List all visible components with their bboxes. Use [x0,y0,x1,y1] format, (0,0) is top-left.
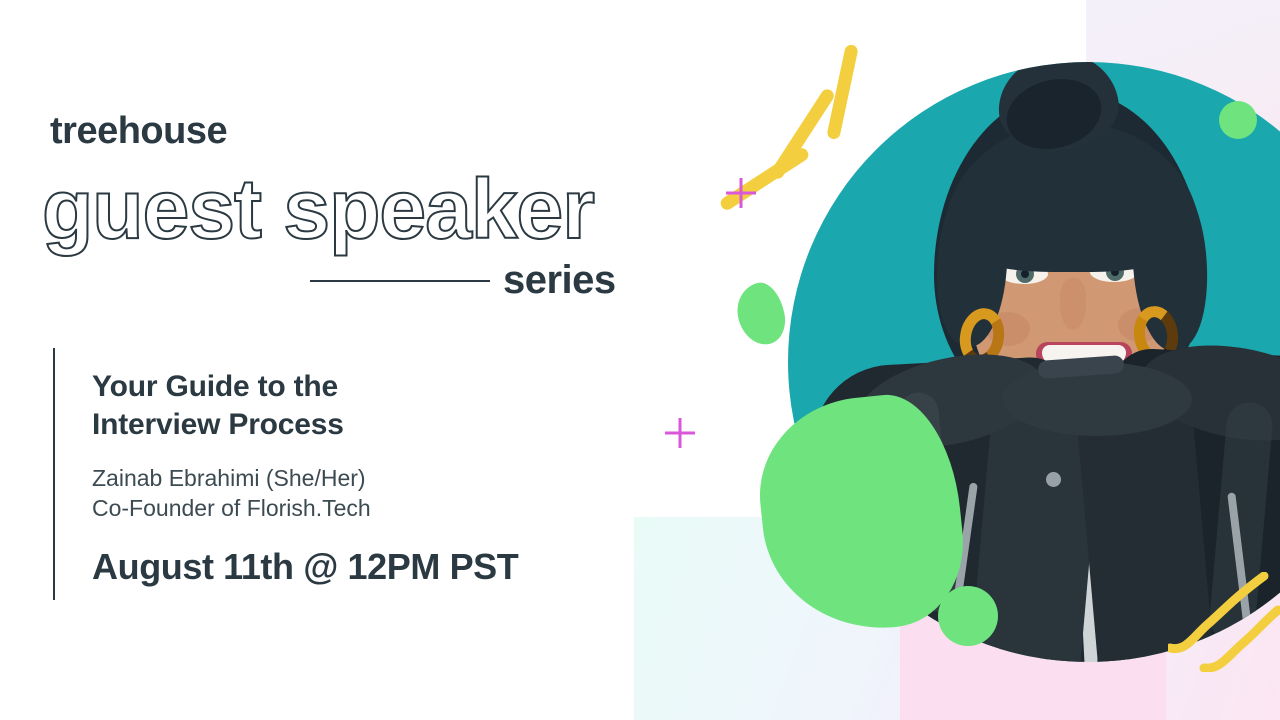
speaker-name: Zainab Ebrahimi (She/Her) [92,463,652,494]
talk-title: Your Guide to the Interview Process [92,368,652,445]
event-datetime: August 11th @ 12PM PST [92,546,652,588]
vertical-accent-rule [53,348,55,600]
talk-title-line-2: Interview Process [92,408,344,441]
green-blob-small [732,279,790,349]
talk-details: Your Guide to the Interview Process Zain… [92,368,652,588]
talk-title-line-1: Your Guide to the [92,370,338,403]
wavy-line-icon [1168,572,1280,672]
headline-text: guest speaker [42,162,594,256]
plus-icon [724,176,758,210]
series-label: series [503,258,616,303]
headline-outline: guest speaker [38,160,678,260]
green-circle-bottom [938,586,998,646]
brand-wordmark: treehouse [50,110,227,153]
content-column: treehouse guest speaker series Your Guid… [0,0,700,720]
promo-slide: treehouse guest speaker series Your Guid… [0,0,1280,720]
speaker-role: Co-Founder of Florish.Tech [92,493,652,524]
series-divider [310,280,490,282]
